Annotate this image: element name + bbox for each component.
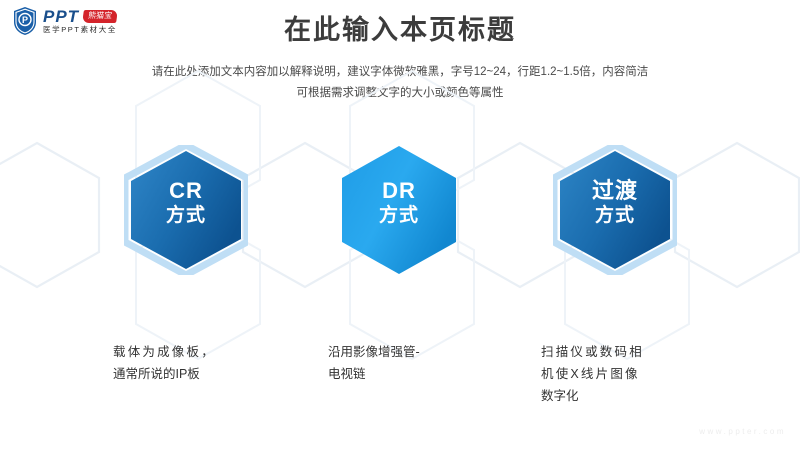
caption-dr: 沿用影像增强管- 电视链 bbox=[328, 342, 528, 386]
watermark: www.ppter.com bbox=[699, 427, 786, 436]
hexagon-cr[interactable] bbox=[124, 145, 248, 275]
background-hexagon-1 bbox=[0, 140, 102, 290]
caption-cr: 载体为成像板， 通常所说的IP板 bbox=[113, 342, 313, 386]
caption-cr-line1: 载体为成像板， bbox=[113, 342, 313, 364]
hexagon-transition[interactable] bbox=[553, 145, 677, 275]
caption-dr-line2: 电视链 bbox=[328, 364, 528, 386]
caption-transition: 扫描仪或数码相 机使X线片图像 数字化 bbox=[541, 342, 741, 408]
caption-transition-line2: 机使X线片图像 bbox=[541, 364, 741, 386]
hexagon-diagram: CR 方式 DR 方式 bbox=[0, 132, 800, 312]
caption-dr-line1: 沿用影像增强管- bbox=[328, 342, 528, 364]
caption-cr-line2: 通常所说的IP板 bbox=[113, 364, 313, 386]
caption-transition-line1: 扫描仪或数码相 bbox=[541, 342, 741, 364]
caption-transition-line3: 数字化 bbox=[541, 386, 741, 408]
page-title: 在此输入本页标题 bbox=[0, 14, 800, 46]
hexagon-dr[interactable] bbox=[340, 145, 458, 275]
